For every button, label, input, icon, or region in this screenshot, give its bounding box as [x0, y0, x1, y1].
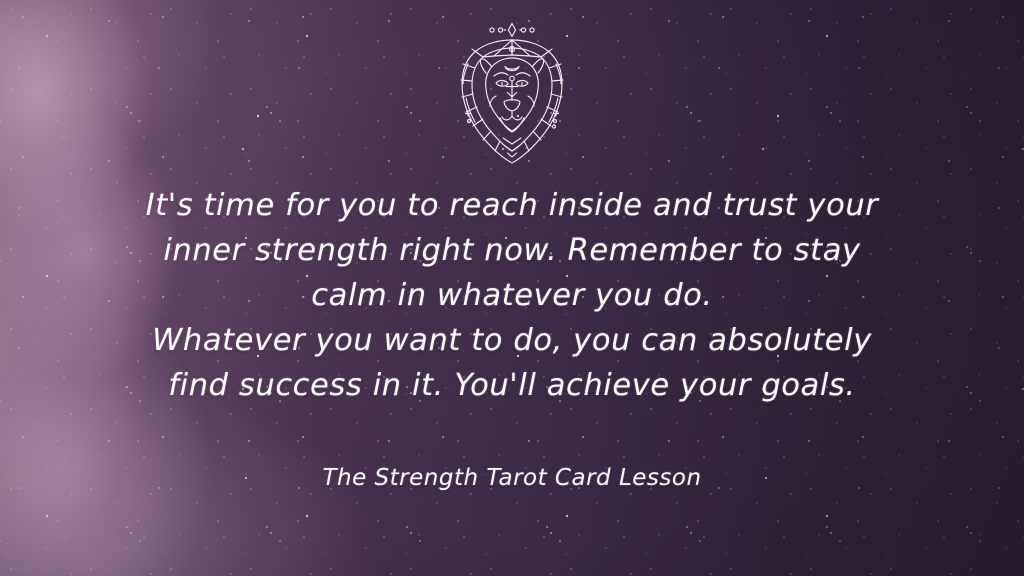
- emblem-container: [0, 18, 1024, 168]
- quote-line-5: find success in it. You'll achieve your …: [0, 363, 1024, 408]
- quote-line-3: calm in whatever you do.: [0, 273, 1024, 318]
- quote-line-4: Whatever you want to do, you can absolut…: [0, 318, 1024, 363]
- quote-line-2: inner strength right now. Remember to st…: [0, 228, 1024, 273]
- tarot-quote-poster: It's time for you to reach inside and tr…: [0, 0, 1024, 576]
- quote-block: It's time for you to reach inside and tr…: [0, 183, 1024, 408]
- leo-lion-zodiac-icon: [442, 18, 582, 168]
- attribution-text: The Strength Tarot Card Lesson: [0, 462, 1024, 494]
- quote-line-1: It's time for you to reach inside and tr…: [0, 183, 1024, 228]
